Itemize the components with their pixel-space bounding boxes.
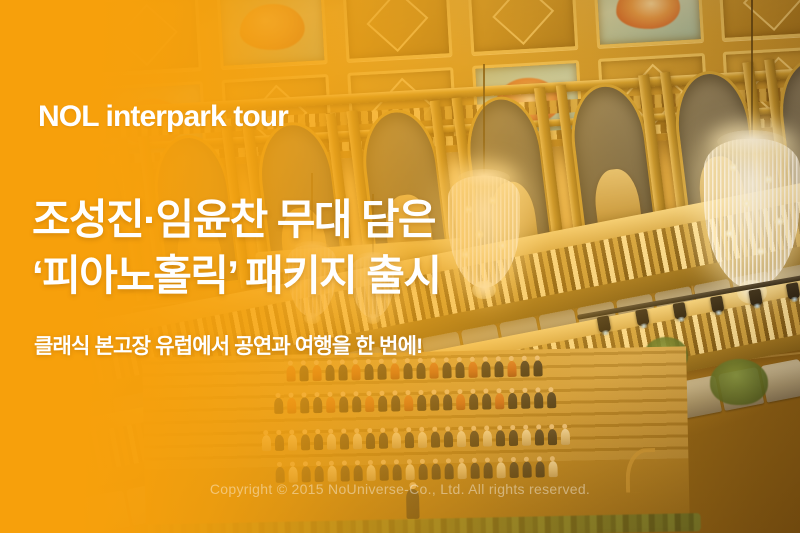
brand-logo[interactable]: NOL interpark tour bbox=[38, 102, 288, 132]
promo-banner: NOL interpark tour 조성진·임윤찬 무대 담은 ‘피아노홀릭’… bbox=[0, 0, 800, 533]
banner-content: NOL interpark tour 조성진·임윤찬 무대 담은 ‘피아노홀릭’… bbox=[0, 0, 800, 533]
headline-line-1: 조성진·임윤찬 무대 담은 bbox=[32, 196, 435, 243]
headline: 조성진·임윤찬 무대 담은 ‘피아노홀릭’ 패키지 출시 bbox=[32, 192, 440, 304]
headline-line-2: ‘피아노홀릭’ 패키지 출시 bbox=[32, 248, 440, 304]
subtitle: 클래식 본고장 유럽에서 공연과 여행을 한 번에! bbox=[34, 330, 422, 360]
copyright-watermark: Copyright © 2015 NoUniverse-Co., Ltd. Al… bbox=[0, 481, 800, 497]
